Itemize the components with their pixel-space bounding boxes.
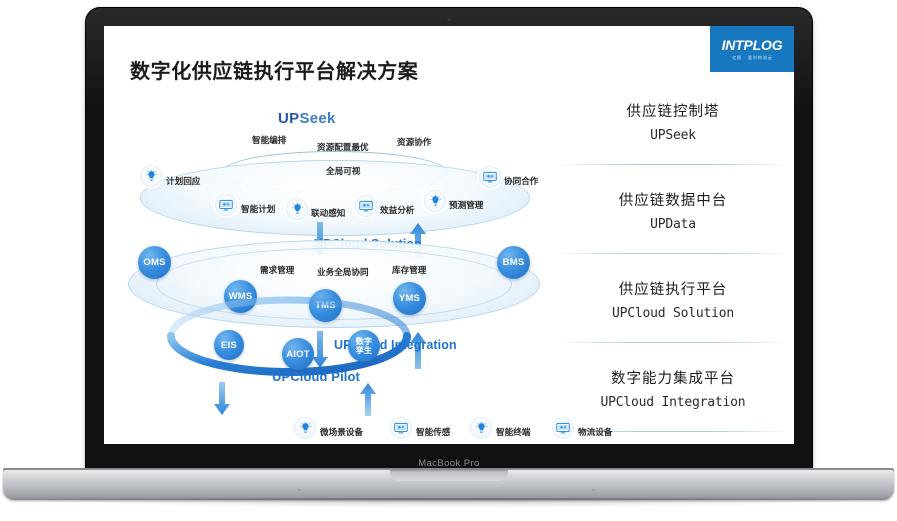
- tier1-node-label: 智能计划: [241, 203, 275, 215]
- layer-name-en: UPSeek: [552, 128, 794, 143]
- platform-layer-list: 供应链控制塔 UPSeek 供应链数据中台 UPData 供应链执行平台 UPC…: [552, 88, 794, 440]
- tier1-heading-part1: UP: [278, 110, 299, 127]
- lightbulb-icon: [475, 422, 488, 435]
- monitor-icon: [359, 200, 373, 213]
- list-item: 供应链控制塔 UPSeek: [552, 100, 794, 143]
- tier1-node-chip[interactable]: [140, 165, 162, 187]
- tier4-node-label: 微场景设备: [320, 426, 363, 438]
- digital-twin-line2: 孪生: [356, 346, 372, 355]
- tier1-node-chip[interactable]: [286, 198, 308, 220]
- list-item: 供应链执行平台 UPCloud Solution: [552, 278, 794, 321]
- lightbulb-icon: [299, 422, 312, 435]
- tier4-node-label: 智能传感: [416, 426, 450, 438]
- tier1-inner-label: 资源配置最优: [317, 141, 369, 153]
- monitor-icon: [394, 422, 408, 435]
- tier2-bubble-oms[interactable]: OMS: [138, 246, 171, 279]
- tier1-inner-label: 智能编排: [252, 134, 286, 146]
- divider: [556, 164, 790, 165]
- page-title: 数字化供应链执行平台解决方案: [130, 55, 418, 84]
- webcam-dot: [448, 18, 451, 21]
- monitor-icon: [483, 171, 497, 184]
- tier2-label: 需求管理: [260, 264, 294, 276]
- lightbulb-icon: [291, 203, 304, 216]
- tier2-label: 库存管理: [392, 264, 426, 276]
- tier4-node-chip[interactable]: [470, 417, 492, 439]
- divider: [556, 342, 790, 343]
- tier3-bubble-aiot[interactable]: AIOT: [282, 338, 314, 370]
- tier2-label: 业务全局协同: [317, 266, 369, 278]
- layer-name-en: UPCloud Solution: [552, 306, 794, 321]
- list-item: 供应链数据中台 UPData: [552, 189, 794, 232]
- arrow-down-tier3: [212, 382, 232, 416]
- tier1-node-label: 预测管理: [449, 199, 483, 211]
- tier1-heading: UPSeek: [278, 110, 336, 127]
- arrow-up-tier4: [358, 382, 378, 416]
- tier1-inner-label: 资源协作: [397, 136, 431, 148]
- layer-name-en: UPCloud Integration: [552, 395, 794, 410]
- tier1-node-chip[interactable]: [479, 166, 501, 188]
- tier3-bubble-eis[interactable]: EIS: [214, 330, 244, 360]
- divider: [556, 253, 790, 254]
- intplog-logo: INTPLOG 亿图 · 盈利物流云: [710, 26, 794, 72]
- layer-name-cn: 数字能力集成平台: [552, 367, 794, 388]
- tier4-node-chip[interactable]: [552, 417, 574, 439]
- laptop-open-notch: [390, 470, 508, 481]
- tier2-bubble-bms[interactable]: BMS: [497, 246, 530, 279]
- tier1-heading-part2: Seek: [299, 110, 335, 127]
- tier3-bubble-digital-twin[interactable]: 数字 孪生: [348, 330, 380, 362]
- monitor-icon: [556, 422, 570, 435]
- tier4-node-label: 智能终端: [496, 426, 530, 438]
- drop-shadow: [30, 498, 867, 508]
- digital-twin-line1: 数字: [356, 337, 372, 346]
- layer-name-cn: 供应链数据中台: [552, 189, 794, 210]
- tier4-node-label: 物流设备: [578, 426, 612, 438]
- tier1-node-chip[interactable]: [355, 195, 377, 217]
- tier1-node-label: 效益分析: [380, 204, 414, 216]
- layer-name-en: UPData: [552, 217, 794, 232]
- base-vent-left: [298, 489, 301, 491]
- architecture-diagram: UPSeek 智能编排 资源配置最优 资源协作 全局可视: [112, 82, 552, 440]
- laptop-screen: INTPLOG 亿图 · 盈利物流云 数字化供应链执行平台解决方案 供应链控制塔…: [104, 26, 794, 444]
- laptop-mockup: INTPLOG 亿图 · 盈利物流云 数字化供应链执行平台解决方案 供应链控制塔…: [0, 0, 897, 521]
- presentation-slide: INTPLOG 亿图 · 盈利物流云 数字化供应链执行平台解决方案 供应链控制塔…: [104, 26, 794, 444]
- layer-name-cn: 供应链执行平台: [552, 278, 794, 299]
- tier1-node-chip[interactable]: [424, 190, 446, 212]
- logo-wordmark: INTPLOG: [722, 37, 783, 53]
- tier1-node-label: 协同合作: [504, 175, 538, 187]
- tier1-inner-label: 全局可视: [326, 165, 360, 177]
- tier1-node-label: 计划回应: [166, 175, 200, 187]
- monitor-icon: [219, 199, 233, 212]
- list-item: 数字能力集成平台 UPCloud Integration: [552, 367, 794, 410]
- tier4-node-chip[interactable]: [294, 417, 316, 439]
- tier1-node-chip[interactable]: [215, 194, 237, 216]
- tier3-heading-bottom: UPCloud Pilot: [272, 369, 360, 384]
- lightbulb-icon: [145, 170, 158, 183]
- logo-subtitle: 亿图 · 盈利物流云: [732, 55, 773, 61]
- layer-name-cn: 供应链控制塔: [552, 100, 794, 121]
- tier1-node-label: 联动感知: [311, 207, 345, 219]
- lightbulb-icon: [429, 195, 442, 208]
- laptop-lid: INTPLOG 亿图 · 盈利物流云 数字化供应链执行平台解决方案 供应链控制塔…: [86, 8, 812, 480]
- base-vent-right: [592, 489, 595, 491]
- tier4-node-chip[interactable]: [390, 417, 412, 439]
